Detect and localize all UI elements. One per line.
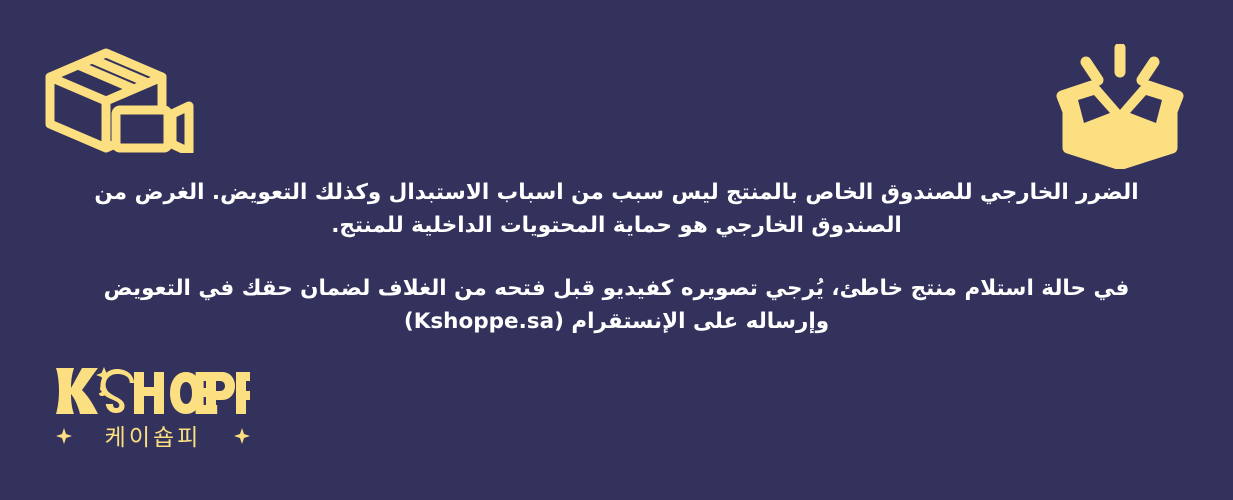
logo-wordmark-kshoppe (50, 362, 250, 418)
kshoppe-logo: 케이숍피 (50, 362, 260, 457)
logo-subtitle-korean: 케이숍피 (50, 420, 256, 452)
promo-banner: الضرر الخارجي للصندوق الخاص بالمنتج ليس … (0, 0, 1233, 500)
box-with-video-camera-icon (44, 48, 194, 153)
open-box-burst-icon (1040, 44, 1200, 169)
policy-paragraph-wrong-item: في حالة استلام منتج خاطئ، يُرجي تصويره ك… (72, 272, 1161, 338)
logo-subtitle-text: 케이숍피 (105, 425, 202, 451)
policy-paragraph-damage: الضرر الخارجي للصندوق الخاص بالمنتج ليس … (72, 176, 1161, 242)
banner-copy: الضرر الخارجي للصندوق الخاص بالمنتج ليس … (72, 176, 1161, 338)
